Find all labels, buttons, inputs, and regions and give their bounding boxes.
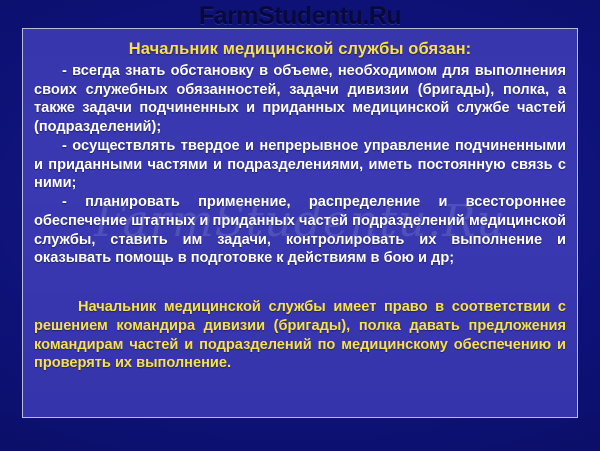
duties-list: - всегда знать обстановку в объеме, необ… [34, 62, 566, 268]
duty-item: - всегда знать обстановку в объеме, необ… [34, 62, 566, 137]
page-title: Начальник медицинской службы обязан: [34, 40, 566, 59]
rights-block: Начальник медицинской службы имеет право… [34, 298, 566, 373]
content-panel-inner: Начальник медицинской службы обязан: - в… [23, 29, 577, 373]
content-panel: Начальник медицинской службы обязан: - в… [22, 28, 578, 418]
duty-item: - планировать применение, распределение … [34, 193, 566, 268]
duty-item: - осуществлять твердое и непрерывное упр… [34, 137, 566, 193]
rights-paragraph: Начальник медицинской службы имеет право… [34, 298, 566, 373]
